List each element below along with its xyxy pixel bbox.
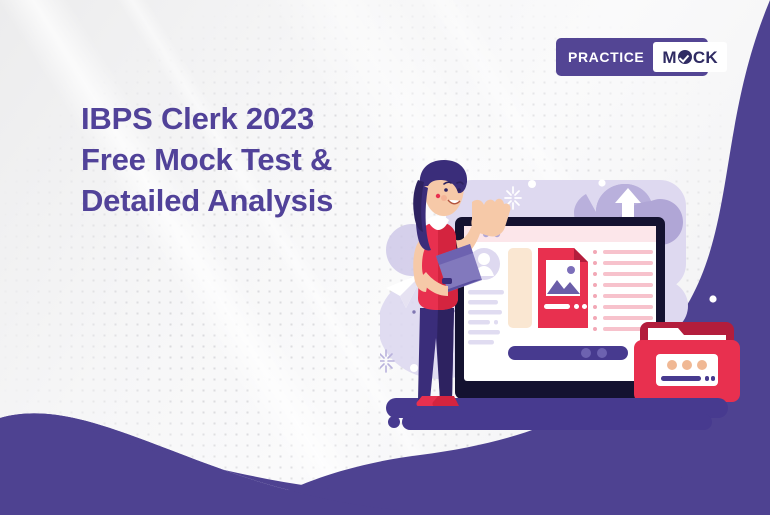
- logo-mock-text: M CK: [662, 49, 718, 66]
- sparkle-icon: [380, 350, 394, 372]
- dot-decoration: [709, 295, 716, 302]
- page-title: IBPS Clerk 2023 Free Mock Test & Detaile…: [81, 98, 421, 222]
- banner-stage: PRACTICE M CK IBPS Clerk 2023 Free Mock …: [0, 0, 770, 515]
- page-title-line-3: Detailed Analysis: [81, 180, 421, 221]
- page-title-line-1: IBPS Clerk 2023: [81, 98, 421, 139]
- dot-decoration: [410, 364, 418, 372]
- logo-mock-box: M CK: [653, 42, 727, 72]
- laptop-device: [455, 217, 665, 399]
- image-file-card: [538, 248, 588, 328]
- eye: [457, 188, 461, 192]
- page-title-line-2: Free Mock Test &: [81, 139, 421, 180]
- logo-practice-text: PRACTICE: [560, 50, 653, 64]
- check-circle-icon: [678, 50, 692, 64]
- hero-illustration: [380, 160, 770, 450]
- practicemock-logo[interactable]: PRACTICE M CK: [556, 38, 708, 76]
- dot-decoration: [598, 179, 605, 186]
- cream-column: [508, 248, 532, 328]
- progress-pill: [508, 346, 628, 360]
- eye: [444, 188, 448, 192]
- logo-mock-ck: CK: [693, 49, 718, 66]
- logo-mock-m: M: [662, 49, 676, 66]
- folder-card: [634, 322, 740, 402]
- dot-decoration: [528, 180, 536, 188]
